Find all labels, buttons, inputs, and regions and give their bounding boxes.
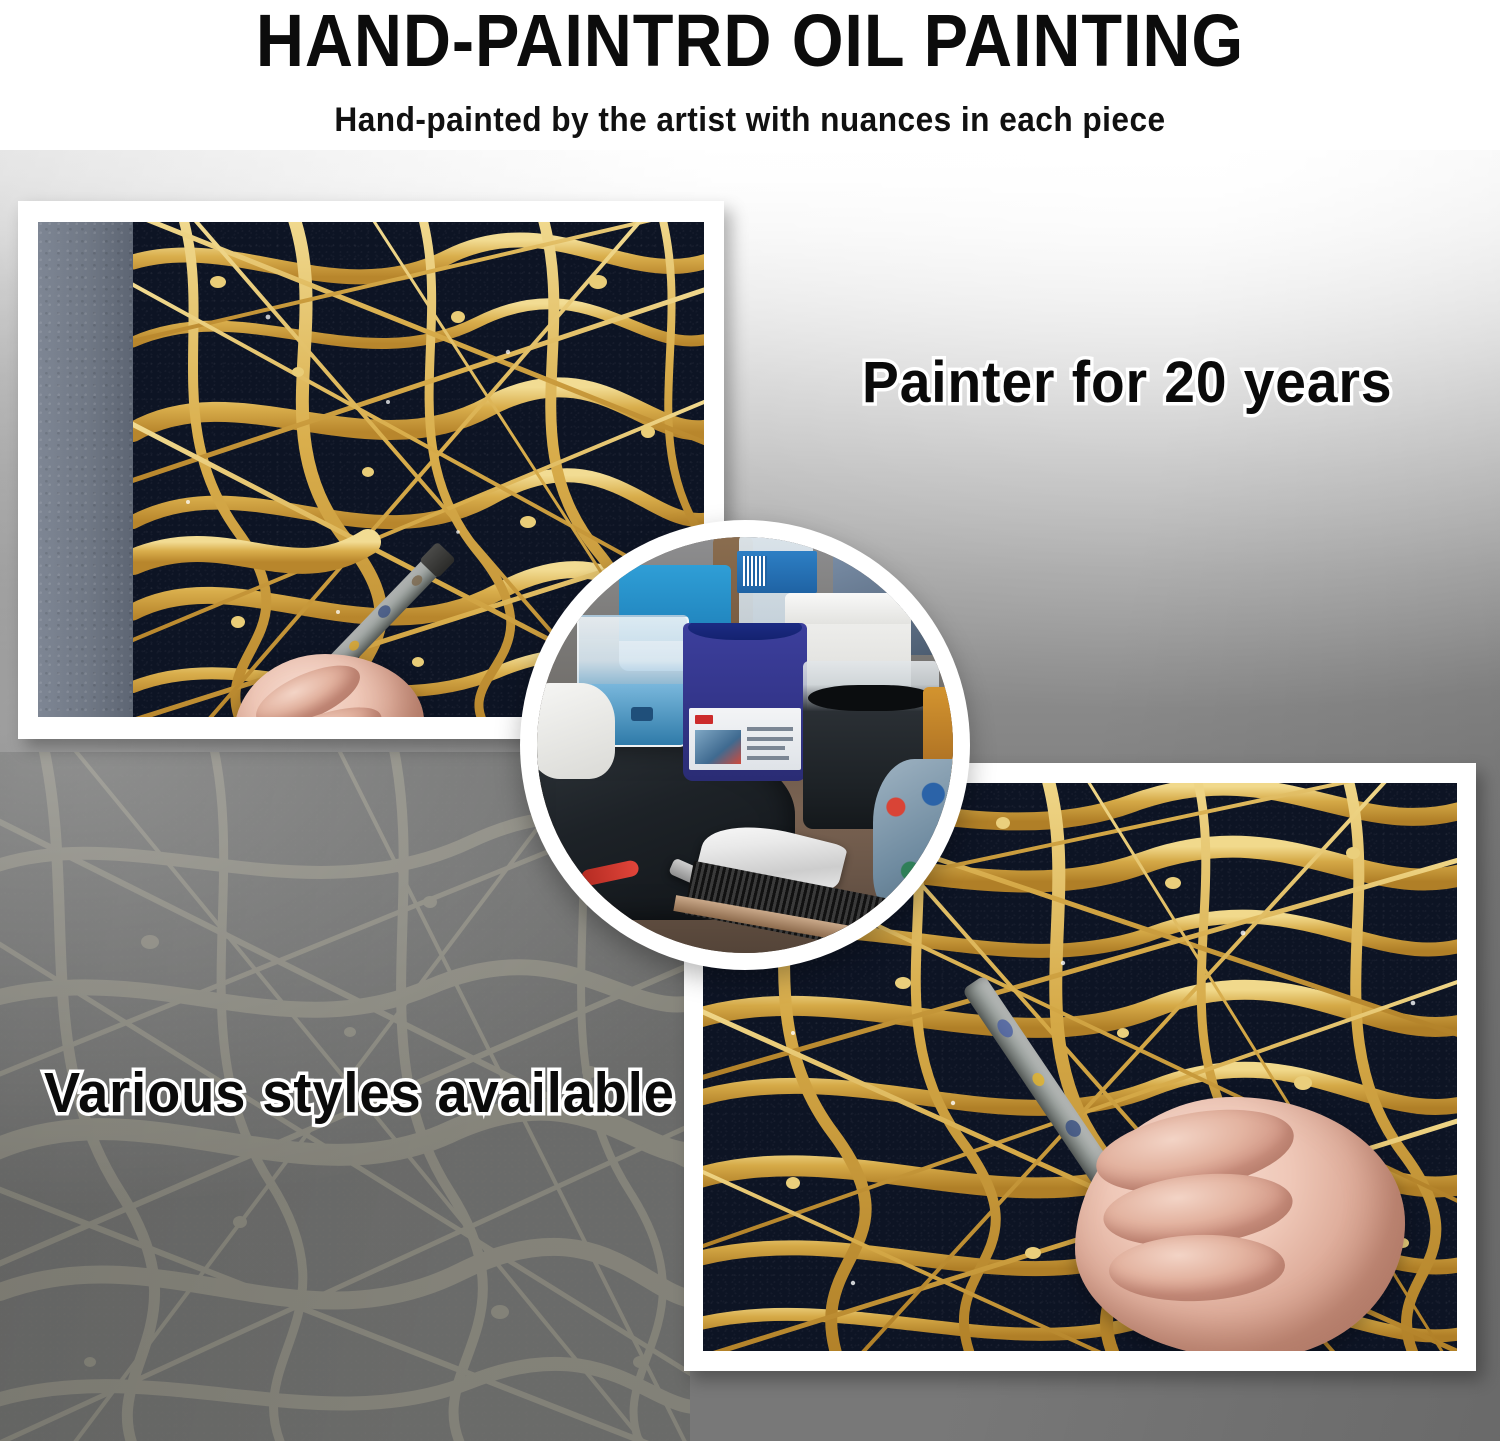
poster-canvas: HAND-PAINTRD OIL PAINTING Hand-painted b… bbox=[0, 0, 1500, 1441]
page-title: HAND-PAINTRD OIL PAINTING bbox=[75, 0, 1425, 84]
caption-painter-years: Painter for 20 years bbox=[862, 348, 1392, 418]
caption-various-styles: Various styles available bbox=[44, 1058, 675, 1128]
white-paint-blob bbox=[537, 683, 615, 779]
barcode bbox=[743, 556, 767, 586]
circular-studio-inset[interactable] bbox=[520, 520, 970, 970]
circular-studio-image bbox=[537, 537, 953, 953]
color-palette bbox=[873, 759, 953, 919]
wall-edge-strip bbox=[38, 222, 133, 717]
blue-pigment-bucket bbox=[683, 623, 807, 781]
page-subtitle: Hand-painted by the artist with nuances … bbox=[53, 98, 1448, 142]
